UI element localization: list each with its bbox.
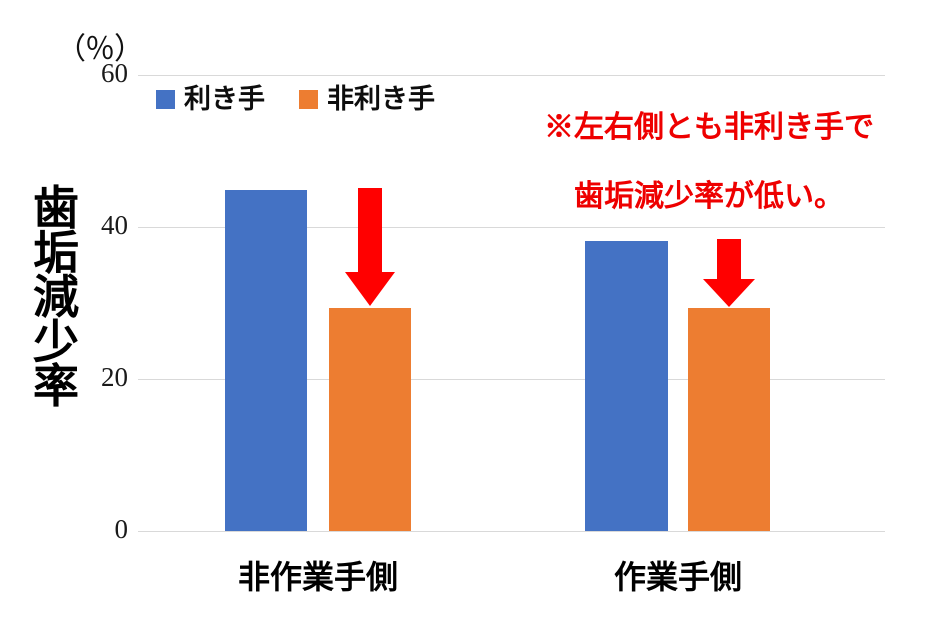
- bar-left-dominant: [225, 190, 307, 531]
- bar-left-nondominant: [329, 308, 411, 531]
- bar-right-dominant: [585, 241, 668, 531]
- legend-swatch-blue-icon: [156, 90, 175, 109]
- legend: 利き手 非利き手: [156, 86, 435, 113]
- annotation-line-2: 歯垢減少率が低い。: [514, 180, 904, 215]
- x-category-label-left: 非作業手側: [220, 552, 416, 598]
- legend-item-nondominant-hand[interactable]: 非利き手: [299, 86, 435, 113]
- gridline-0: [138, 531, 885, 532]
- y-axis-title: 歯垢減少率: [26, 186, 86, 409]
- arrow-down-left-icon: [345, 188, 395, 308]
- ytick-label-0: 0: [62, 514, 128, 545]
- annotation-note: ※左右側とも非利き手で 歯垢減少率が低い。: [514, 76, 904, 250]
- x-category-label-right: 作業手側: [580, 552, 776, 598]
- legend-label-dominant-hand: 利き手: [184, 86, 265, 113]
- bar-right-nondominant: [688, 308, 770, 531]
- gridline-20: [138, 379, 885, 380]
- legend-swatch-orange-icon: [299, 90, 318, 109]
- bar-chart: （％） 60 40 20 0 歯垢減少率 利き手 非利き手 ※左右側とも非利き手…: [0, 0, 930, 630]
- ytick-label-60: 60: [62, 58, 128, 89]
- annotation-line-1: ※左右側とも非利き手で: [514, 111, 904, 146]
- legend-label-nondominant-hand: 非利き手: [327, 86, 435, 113]
- legend-item-dominant-hand[interactable]: 利き手: [156, 86, 265, 113]
